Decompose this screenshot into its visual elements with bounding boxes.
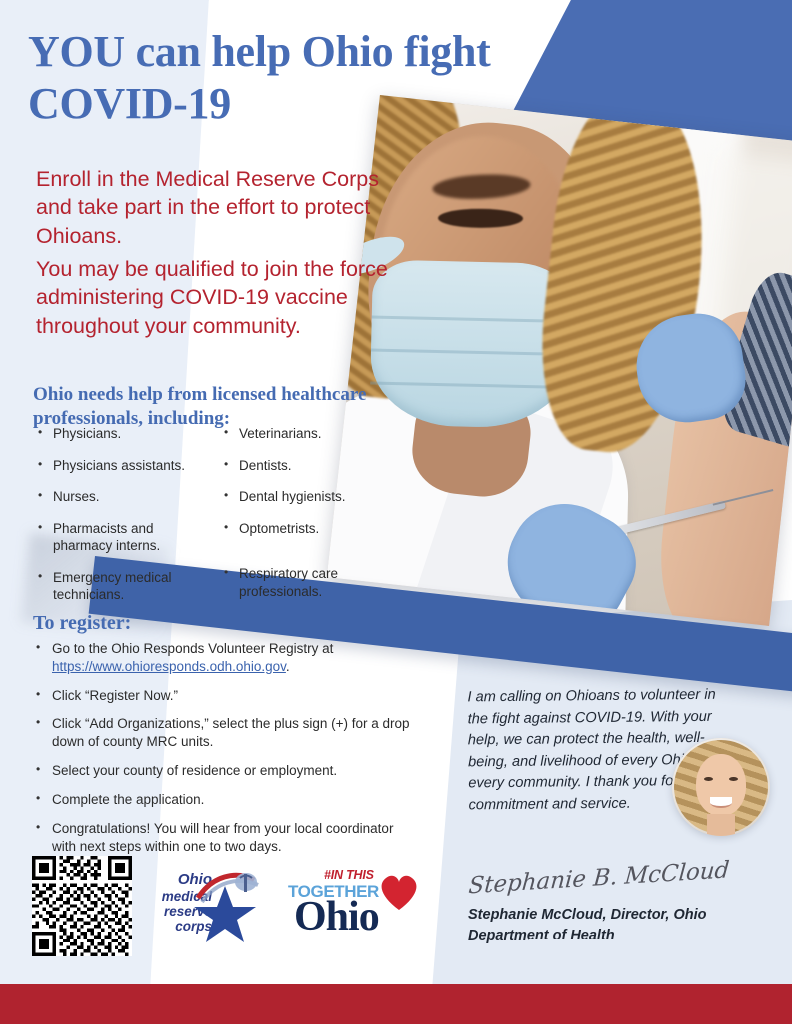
- bullet-icon: •: [224, 425, 239, 443]
- list-item-label: Respiratory care professionals.: [239, 565, 394, 600]
- poster-root: YOU can help Ohio fight COVID-19 Enroll …: [0, 0, 792, 1024]
- avatar: [672, 738, 770, 836]
- list-item: •Emergency medical technicians.: [38, 569, 208, 604]
- itt-ohio-text: Ohio: [294, 896, 379, 938]
- list-item-label: Nurses.: [53, 488, 100, 506]
- itt-hash-text: #IN THIS: [324, 868, 374, 882]
- list-item-label: Veterinarians.: [239, 425, 322, 443]
- bullet-icon: •: [38, 569, 53, 604]
- professionals-columns: •Physicians. •Physicians assistants. •Nu…: [38, 425, 398, 618]
- list-item-label: Optometrists.: [239, 520, 319, 538]
- register-heading: To register:: [33, 612, 131, 635]
- professionals-column-right: •Veterinarians. •Dentists. •Dental hygie…: [224, 425, 394, 618]
- register-step-text: Click “Register Now.”: [52, 687, 178, 705]
- bullet-icon: •: [224, 565, 239, 600]
- register-step-text: Click “Add Organizations,” select the pl…: [52, 715, 416, 751]
- bullet-icon: •: [36, 687, 52, 705]
- list-item: • Go to the Ohio Responds Volunteer Regi…: [36, 640, 416, 676]
- bullet-icon: •: [224, 520, 239, 538]
- list-item: •Physicians.: [38, 425, 208, 443]
- list-item: •Nurses.: [38, 488, 208, 506]
- list-item: •Congratulations! You will hear from you…: [36, 820, 416, 856]
- register-step-text: Complete the application.: [52, 791, 204, 809]
- bottom-red-bar: [0, 984, 792, 1024]
- lead-paragraph-2: You may be qualified to join the force a…: [36, 255, 416, 340]
- list-item: •Dental hygienists.: [224, 488, 394, 506]
- lead-paragraph-1: Enroll in the Medical Reserve Corps and …: [36, 165, 416, 250]
- qr-code-svg: [32, 856, 132, 956]
- list-item: •Dentists.: [224, 457, 394, 475]
- list-item-label: Dental hygienists.: [239, 488, 346, 506]
- register-step-text: Select your county of residence or emplo…: [52, 762, 337, 780]
- bullet-icon: •: [224, 488, 239, 506]
- step-text-after: .: [286, 659, 290, 674]
- bullet-icon: •: [38, 425, 53, 443]
- heart-icon: [376, 870, 422, 912]
- star-icon: [194, 884, 256, 946]
- list-item: •Veterinarians.: [224, 425, 394, 443]
- register-step-text: Congratulations! You will hear from your…: [52, 820, 416, 856]
- column-spacer: [224, 551, 394, 565]
- list-item: •Respiratory care professionals.: [224, 565, 394, 600]
- bullet-icon: •: [38, 457, 53, 475]
- bullet-icon: •: [38, 520, 53, 555]
- list-item-label: Physicians.: [53, 425, 121, 443]
- bullet-icon: •: [36, 791, 52, 809]
- bullet-icon: •: [36, 762, 52, 780]
- list-item-label: Pharmacists and pharmacy interns.: [53, 520, 208, 555]
- list-item: •Click “Register Now.”: [36, 687, 416, 705]
- professionals-column-left: •Physicians. •Physicians assistants. •Nu…: [38, 425, 208, 618]
- list-item: •Click “Add Organizations,” select the p…: [36, 715, 416, 751]
- step-text-before: Go to the Ohio Responds Volunteer Regist…: [52, 641, 333, 656]
- page-title: YOU can help Ohio fight COVID-19: [28, 26, 498, 130]
- register-step-text: Go to the Ohio Responds Volunteer Regist…: [52, 640, 416, 676]
- list-item: •Pharmacists and pharmacy interns.: [38, 520, 208, 555]
- list-item: •Select your county of residence or empl…: [36, 762, 416, 780]
- list-item-label: Dentists.: [239, 457, 292, 475]
- ohio-medical-reserve-corps-logo: Ohio medical reserve corps: [150, 862, 270, 954]
- list-item: •Complete the application.: [36, 791, 416, 809]
- list-item-label: Emergency medical technicians.: [53, 569, 208, 604]
- bullet-icon: •: [36, 640, 52, 676]
- bullet-icon: •: [36, 820, 52, 856]
- qr-code-icon[interactable]: [32, 856, 132, 956]
- bottom-right-tint: [500, 939, 792, 984]
- bullet-icon: •: [224, 457, 239, 475]
- list-item: •Physicians assistants.: [38, 457, 208, 475]
- bullet-icon: •: [38, 488, 53, 506]
- list-item: •Optometrists.: [224, 520, 394, 538]
- ohio-responds-link[interactable]: https://www.ohioresponds.odh.ohio.gov: [52, 659, 286, 674]
- register-steps: • Go to the Ohio Responds Volunteer Regi…: [36, 640, 416, 866]
- in-this-together-ohio-logo: #IN THIS TOGETHER Ohio: [288, 866, 423, 944]
- bullet-icon: •: [36, 715, 52, 751]
- list-item-label: Physicians assistants.: [53, 457, 185, 475]
